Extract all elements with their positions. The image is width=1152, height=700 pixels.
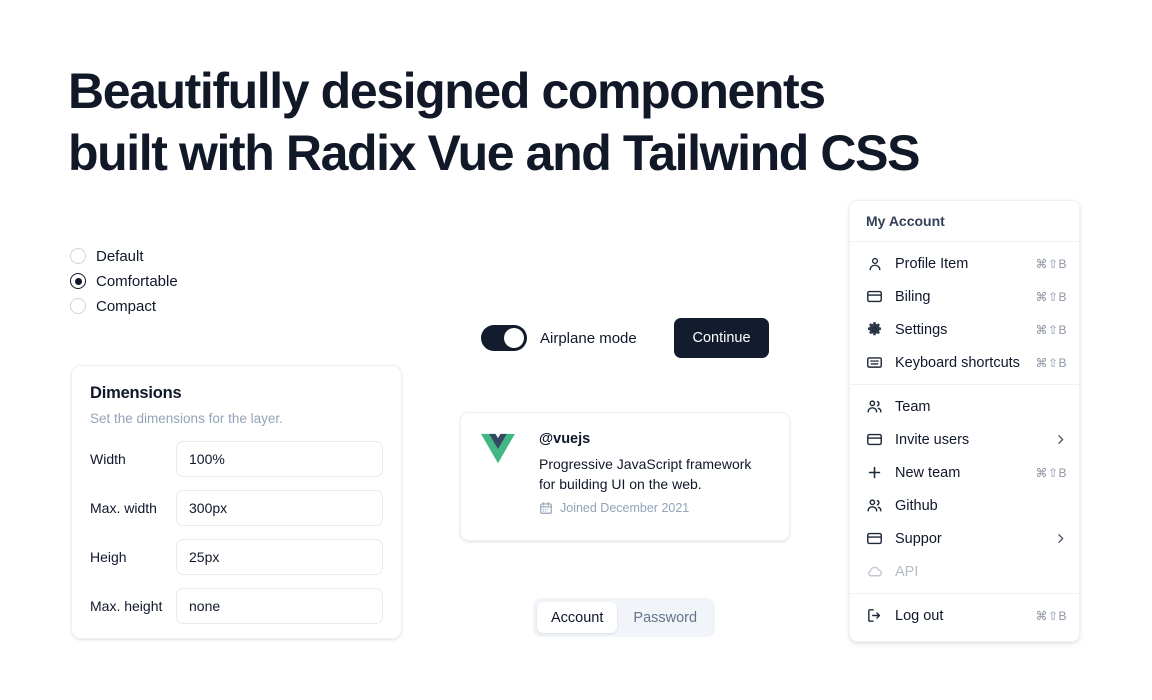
hover-card-handle: @vuejs (539, 431, 771, 447)
menu-item-label: Team (895, 399, 1055, 415)
radio-indicator-icon[interactable] (70, 248, 86, 264)
calendar-icon (539, 501, 553, 515)
dimensions-card: Dimensions Set the dimensions for the la… (71, 365, 402, 639)
dimensions-field-row: Max. width (90, 490, 383, 526)
vue-logo-icon (481, 433, 523, 471)
menu-item-settings[interactable]: Settings ⌘⇧B (850, 313, 1079, 346)
hover-card-body: @vuejs Progressive JavaScript framework … (539, 431, 771, 540)
toggle-knob (504, 328, 524, 348)
menu-section-account: Profile Item ⌘⇧B Biling ⌘⇧B (850, 242, 1079, 384)
dimensions-field-row: Max. height (90, 588, 383, 624)
users-icon (866, 497, 883, 514)
menu-item-shortcut: ⌘⇧B (1035, 257, 1067, 271)
menu-item-log-out[interactable]: Log out ⌘⇧B (850, 599, 1079, 632)
menu-item-label: New team (895, 465, 1023, 481)
menu-item-shortcut: ⌘⇧B (1035, 323, 1067, 337)
max-height-input[interactable] (176, 588, 383, 624)
credit-card-icon (866, 431, 883, 448)
menu-item-label: Log out (895, 608, 1023, 624)
menu-item-label: Settings (895, 322, 1023, 338)
vuejs-hover-card: @vuejs Progressive JavaScript framework … (460, 412, 790, 541)
menu-item-api: API (850, 555, 1079, 588)
page-title-line-1: Beautifully designed components (68, 60, 1028, 122)
menu-section-session: Log out ⌘⇧B (850, 594, 1079, 637)
menu-item-shortcut: ⌘⇧B (1035, 290, 1067, 304)
users-icon (866, 398, 883, 415)
menu-item-shortcut: ⌘⇧B (1035, 609, 1067, 623)
radio-label: Default (96, 249, 144, 264)
field-label-width: Width (90, 451, 176, 467)
tab-password[interactable]: Password (619, 602, 711, 633)
radio-label: Compact (96, 299, 156, 314)
page-root: Beautifully designed components built wi… (0, 0, 1152, 700)
hover-card-joined: Joined December 2021 (539, 501, 771, 515)
radio-option-comfortable[interactable]: Comfortable (70, 273, 178, 289)
menu-header: My Account (850, 201, 1079, 241)
density-radio-group: Default Comfortable Compact (70, 248, 178, 314)
menu-item-billing[interactable]: Biling ⌘⇧B (850, 280, 1079, 313)
menu-item-label: Github (895, 498, 1055, 514)
gear-icon (866, 321, 883, 338)
airplane-mode-control: Airplane mode (481, 325, 637, 351)
radio-option-compact[interactable]: Compact (70, 298, 178, 314)
settings-tabs: Account Password (533, 598, 715, 637)
radio-indicator-icon[interactable] (70, 273, 86, 289)
dimensions-field-list: Width Max. width Heigh Max. height (90, 441, 383, 624)
radio-label: Comfortable (96, 274, 178, 289)
chevron-right-icon (1054, 532, 1067, 545)
menu-item-label: Suppor (895, 531, 1042, 547)
menu-item-support[interactable]: Suppor (850, 522, 1079, 555)
page-title: Beautifully designed components built wi… (68, 60, 1028, 184)
menu-section-team: Team Invite users New team (850, 385, 1079, 593)
radio-option-default[interactable]: Default (70, 248, 178, 264)
account-dropdown-menu: My Account Profile Item ⌘⇧B Bili (849, 200, 1080, 642)
field-label-height: Heigh (90, 549, 176, 565)
credit-card-icon (866, 530, 883, 547)
tab-account[interactable]: Account (537, 602, 617, 633)
toggle-switch-icon[interactable] (481, 325, 527, 351)
continue-button[interactable]: Continue (674, 318, 769, 358)
logout-icon (866, 607, 883, 624)
menu-item-label: Keyboard shortcuts (895, 355, 1023, 371)
hover-card-joined-text: Joined December 2021 (560, 501, 689, 515)
menu-item-label: Biling (895, 289, 1023, 305)
menu-item-shortcut: ⌘⇧B (1035, 466, 1067, 480)
menu-item-shortcut: ⌘⇧B (1035, 356, 1067, 370)
chevron-right-icon (1054, 433, 1067, 446)
width-input[interactable] (176, 441, 383, 477)
dimensions-field-row: Heigh (90, 539, 383, 575)
menu-item-label: Profile Item (895, 256, 1023, 272)
hover-card-description: Progressive JavaScript framework for bui… (539, 454, 771, 494)
field-label-max-height: Max. height (90, 598, 176, 614)
menu-item-new-team[interactable]: New team ⌘⇧B (850, 456, 1079, 489)
credit-card-icon (866, 288, 883, 305)
dimensions-field-row: Width (90, 441, 383, 477)
menu-item-invite-users[interactable]: Invite users (850, 423, 1079, 456)
menu-item-label: API (895, 564, 1055, 580)
menu-item-label: Invite users (895, 432, 1042, 448)
field-label-max-width: Max. width (90, 500, 176, 516)
keyboard-icon (866, 354, 883, 371)
user-icon (866, 255, 883, 272)
dimensions-title: Dimensions (90, 384, 383, 403)
airplane-mode-label: Airplane mode (540, 330, 637, 347)
page-title-line-2: built with Radix Vue and Tailwind CSS (68, 122, 1028, 184)
max-width-input[interactable] (176, 490, 383, 526)
menu-item-team[interactable]: Team (850, 390, 1079, 423)
dimensions-subtitle: Set the dimensions for the layer. (90, 411, 383, 426)
height-input[interactable] (176, 539, 383, 575)
radio-indicator-icon[interactable] (70, 298, 86, 314)
plus-icon (866, 464, 883, 481)
menu-item-keyboard-shortcuts[interactable]: Keyboard shortcuts ⌘⇧B (850, 346, 1079, 379)
menu-item-github[interactable]: Github (850, 489, 1079, 522)
menu-item-profile[interactable]: Profile Item ⌘⇧B (850, 247, 1079, 280)
cloud-icon (866, 563, 883, 580)
